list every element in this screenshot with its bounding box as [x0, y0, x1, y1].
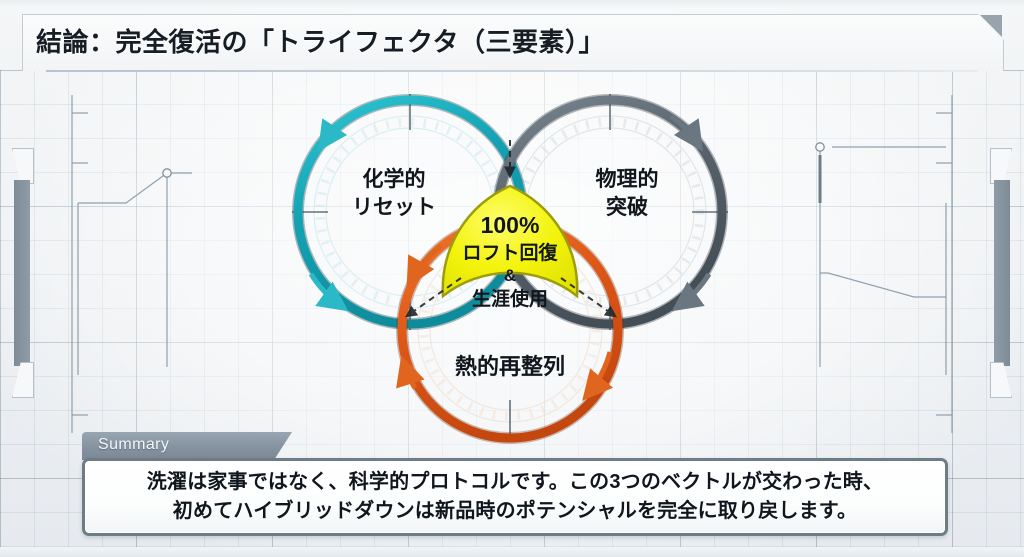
side-cap-top — [12, 148, 34, 184]
page-title: 結論：完全復活の「トライフェクタ（三要素）」 — [36, 22, 605, 59]
label-physical-line2: 突破 — [606, 195, 648, 219]
summary-line-1: 洗濯は家事ではなく、科学的プロトコルです。この3つのベクトルが交わった時、 — [147, 468, 884, 497]
trifecta-venn-diagram: 化学的 リセット 物理的 突破 熱的再整列 100% ロフト回復 & 生涯使用 — [265, 78, 765, 448]
center-line1: 100% — [481, 212, 540, 238]
label-thermal-line1: 熱的再整列 — [455, 354, 565, 379]
venn-label-chemical: 化学的 リセット — [352, 167, 436, 219]
side-cap-bottom — [12, 362, 34, 398]
frame-top-edge — [0, 0, 1024, 8]
summary-tab: Summary — [82, 432, 292, 460]
side-cap-bottom — [990, 362, 1012, 398]
summary-box: 洗濯は家事ではなく、科学的プロトコルです。この3つのベクトルが交わった時、 初め… — [82, 458, 948, 536]
center-line3: & — [504, 266, 516, 285]
summary-line-2: 初めてハイブリッドダウンは新品時のポテンシャルを完全に取り戻します。 — [173, 497, 857, 526]
label-physical-line1: 物理的 — [596, 167, 659, 191]
venn-label-physical: 物理的 突破 — [596, 167, 659, 219]
title-underline — [46, 70, 978, 72]
label-chemical-line1: 化学的 — [363, 167, 426, 191]
center-line4: 生涯使用 — [472, 287, 548, 310]
blueprint-callout-right — [764, 85, 994, 445]
blueprint-callout-left — [30, 85, 260, 445]
side-bar — [994, 180, 1010, 366]
side-bar — [14, 180, 30, 366]
summary-tab-label: Summary — [98, 436, 169, 454]
center-line2: ロフト回復 — [462, 241, 558, 264]
slide-root: 結論：完全復活の「トライフェクタ（三要素）」 — [0, 0, 1024, 557]
label-chemical-line2: リセット — [352, 196, 436, 219]
title-corner-accent — [980, 15, 1002, 37]
venn-label-thermal: 熱的再整列 — [455, 354, 565, 379]
frame-bottom-edge — [0, 547, 1024, 557]
side-decoration-left — [12, 148, 38, 398]
side-cap-top — [990, 148, 1012, 184]
side-decoration-right — [986, 148, 1012, 398]
